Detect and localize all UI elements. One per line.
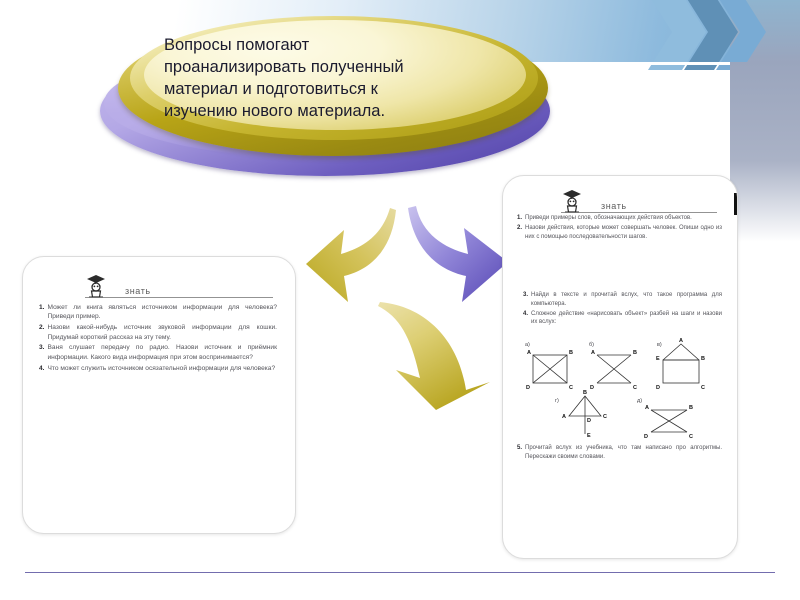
svg-text:а): а) <box>525 342 530 348</box>
svg-text:C: C <box>633 385 637 391</box>
list-item: 1. Может ли книга являться источником ин… <box>39 303 277 322</box>
svg-text:A: A <box>562 414 566 420</box>
scan-header-word-right: знать <box>601 201 627 211</box>
question-list-right-bottom: 5. Прочитай вслух из учебника, что там н… <box>517 444 722 463</box>
scan-header-rule-right <box>561 212 717 213</box>
question-list-right-top: 1. Приведи примеры слов, обозначающих де… <box>517 214 722 243</box>
question-text: Приведи примеры слов, обозначающих дейст… <box>525 214 722 223</box>
question-number: 4. <box>39 364 45 373</box>
svg-text:A: A <box>527 350 531 356</box>
question-number: 2. <box>517 224 522 241</box>
question-text: Что может служить источником осязательно… <box>48 364 278 373</box>
question-number: 5. <box>517 444 522 461</box>
black-marker-bar <box>734 193 738 215</box>
question-number: 2. <box>39 323 45 342</box>
scan-page-left: знать 1. Может ли книга являться источни… <box>23 257 295 533</box>
list-item: 2. Назови действия, которые может соверш… <box>517 224 722 241</box>
title-text: Вопросы помогают проанализировать получе… <box>158 30 510 128</box>
list-item: 1. Приведи примеры слов, обозначающих де… <box>517 214 722 223</box>
list-item: 4. Сложное действие «нарисовать объект» … <box>517 310 722 327</box>
list-item: 5. Прочитай вслух из учебника, что там н… <box>517 444 722 461</box>
scan-header-left: знать <box>85 273 151 299</box>
svg-text:A: A <box>591 350 595 356</box>
figure-diagrams-svg: а) A B D C б) A <box>511 336 727 441</box>
svg-text:д): д) <box>637 398 642 404</box>
question-text: Найди в тексте и прочитай вслух, что так… <box>531 291 722 308</box>
chevron-decor-icon-3 <box>716 0 776 70</box>
graduate-figure-icon <box>85 273 107 299</box>
svg-text:D: D <box>644 434 648 440</box>
question-list-left: 1. Может ли книга являться источником ин… <box>39 303 277 375</box>
question-text: Прочитай вслух из учебника, что там напи… <box>525 444 722 461</box>
svg-text:C: C <box>603 414 607 420</box>
document-card-right[interactable]: знать 1. Приведи примеры слов, обозначаю… <box>502 175 738 559</box>
scan-header-right: знать <box>561 188 627 214</box>
footer-rule <box>25 572 775 573</box>
svg-text:D: D <box>587 418 591 424</box>
graduate-figure-icon <box>561 188 583 214</box>
svg-text:B: B <box>583 390 587 396</box>
question-number: 4. <box>523 310 528 327</box>
svg-text:C: C <box>701 385 705 391</box>
document-card-left[interactable]: знать 1. Может ли книга являться источни… <box>22 256 296 534</box>
svg-text:A: A <box>679 338 683 344</box>
svg-text:г): г) <box>555 398 559 404</box>
question-list-right-mid: 3. Найди в тексте и прочитай вслух, что … <box>517 291 722 328</box>
svg-text:D: D <box>656 385 660 391</box>
question-text: Назови какой-нибудь источник звуковой ин… <box>48 323 278 342</box>
title-disc: Вопросы помогают проанализировать получе… <box>90 8 560 178</box>
question-number: 3. <box>523 291 528 308</box>
svg-text:б): б) <box>589 342 594 348</box>
list-item: 2. Назови какой-нибудь источник звуковой… <box>39 323 277 342</box>
question-number: 3. <box>39 343 45 362</box>
svg-text:D: D <box>590 385 594 391</box>
figure-group: а) A B D C б) A <box>511 336 727 441</box>
svg-text:A: A <box>645 405 649 411</box>
svg-text:B: B <box>633 350 637 356</box>
question-number: 1. <box>39 303 45 322</box>
scan-header-rule-left <box>85 297 273 298</box>
svg-text:C: C <box>689 434 693 440</box>
svg-text:D: D <box>526 385 530 391</box>
svg-text:в): в) <box>657 342 662 348</box>
slide-canvas: Вопросы помогают проанализировать получе… <box>0 0 800 600</box>
svg-text:B: B <box>689 405 693 411</box>
scan-page-right: знать 1. Приведи примеры слов, обозначаю… <box>503 176 737 558</box>
question-text: Может ли книга являться источником инфор… <box>48 303 278 322</box>
list-item: 4. Что может служить источником осязател… <box>39 364 277 373</box>
question-text: Ваня слушает передачу по радио. Назови и… <box>48 343 278 362</box>
svg-text:B: B <box>701 356 705 362</box>
question-text: Назови действия, которые может совершать… <box>525 224 722 241</box>
svg-text:E: E <box>587 433 591 439</box>
svg-text:C: C <box>569 385 573 391</box>
svg-text:E: E <box>656 356 660 362</box>
list-item: 3. Ваня слушает передачу по радио. Назов… <box>39 343 277 362</box>
list-item: 3. Найди в тексте и прочитай вслух, что … <box>517 291 722 308</box>
question-number: 1. <box>517 214 522 223</box>
scan-header-word-left: знать <box>125 286 151 296</box>
question-text: Сложное действие «нарисовать объект» раз… <box>531 310 722 327</box>
arrow-down-gold <box>370 292 490 419</box>
right-gradient-strip <box>730 62 800 242</box>
svg-text:B: B <box>569 350 573 356</box>
